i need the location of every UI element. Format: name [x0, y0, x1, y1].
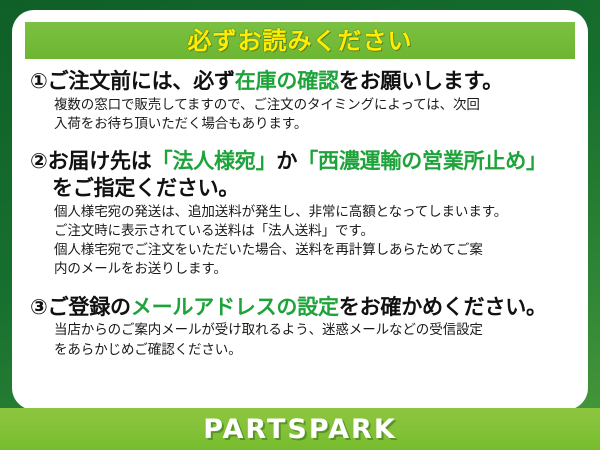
notice-item-1-body: 複数の窓口で販売してますので、ご注文のタイミングによっては、次回 入荷をお待ち頂… [20, 96, 580, 134]
item-3-headline-highlight: メールアドレスの設定 [131, 295, 339, 319]
item-3-headline-after: をお確かめください。 [339, 295, 547, 319]
footer-bar: PARTSPARK [0, 408, 600, 450]
item-2-body-line-1: 個人様宅宛の発送は、追加送料が発生し、非常に高額となってしまいます。 [54, 203, 580, 222]
item-2-body-line-3: 個人様宅宛でご注文をいただいた場合、送料を再計算しあらためてご案 [54, 241, 580, 260]
notice-item-2-headline: ②お届け先は「法人様宛」か「西濃運輸の営業所止め」をご指定ください。 [20, 148, 580, 202]
notice-item-2: ②お届け先は「法人様宛」か「西濃運輸の営業所止め」をご指定ください。 個人様宅宛… [20, 148, 580, 279]
item-1-marker: ① [30, 69, 48, 93]
item-1-headline-highlight: 在庫の確認 [235, 69, 339, 93]
notice-item-1-headline: ①ご注文前には、必ず在庫の確認をお願いします。 [20, 68, 580, 95]
notice-item-3-headline: ③ご登録のメールアドレスの設定をお確かめください。 [20, 294, 580, 321]
notice-card: 必ずお読みください ①ご注文前には、必ず在庫の確認をお願いします。 複数の窓口で… [12, 10, 588, 410]
item-1-body-line-2: 入荷をお待ち頂いただく場合もあります。 [54, 115, 580, 134]
item-2-headline-before: お届け先は [48, 149, 152, 173]
item-2-body-line-4: 内のメールをお送りします。 [54, 260, 580, 279]
item-2-headline-after: をご指定ください。 [30, 175, 580, 202]
item-1-body-line-1: 複数の窓口で販売してますので、ご注文のタイミングによっては、次回 [54, 96, 580, 115]
item-2-headline-middle: か [276, 149, 297, 173]
banner-title: 必ずお読みください [188, 29, 413, 53]
item-1-headline-before: ご注文前には、必ず [48, 69, 235, 93]
title-banner: 必ずお読みください [25, 22, 575, 59]
notice-items: ①ご注文前には、必ず在庫の確認をお願いします。 複数の窓口で販売してますので、ご… [12, 68, 588, 360]
item-2-headline-highlight-2: 「西濃運輸の営業所止め」 [297, 149, 547, 173]
item-3-marker: ③ [30, 295, 48, 319]
item-1-headline-after: をお願いします。 [339, 69, 503, 93]
item-3-body-line-1: 当店からのご案内メールが受け取れるよう、迷惑メールなどの受信設定 [54, 321, 580, 340]
notice-item-1: ①ご注文前には、必ず在庫の確認をお願いします。 複数の窓口で販売してますので、ご… [20, 68, 580, 134]
item-3-headline-before: ご登録の [48, 295, 131, 319]
notice-item-3-body: 当店からのご案内メールが受け取れるよう、迷惑メールなどの受信設定 をあらかじめご… [20, 321, 580, 359]
item-2-body-line-2: ご注文時に表示されている送料は「法人送料」です。 [54, 222, 580, 241]
item-3-body-line-2: をあらかじめご確認ください。 [54, 341, 580, 360]
notice-item-3: ③ご登録のメールアドレスの設定をお確かめください。 当店からのご案内メールが受け… [20, 294, 580, 360]
notice-item-2-body: 個人様宅宛の発送は、追加送料が発生し、非常に高額となってしまいます。 ご注文時に… [20, 203, 580, 280]
notice-poster: 必ずお読みください ①ご注文前には、必ず在庫の確認をお願いします。 複数の窓口で… [0, 0, 600, 450]
item-2-headline-highlight: 「法人様宛」 [152, 149, 277, 173]
item-2-marker: ② [30, 149, 48, 173]
brand-logo-text: PARTSPARK [203, 416, 397, 443]
